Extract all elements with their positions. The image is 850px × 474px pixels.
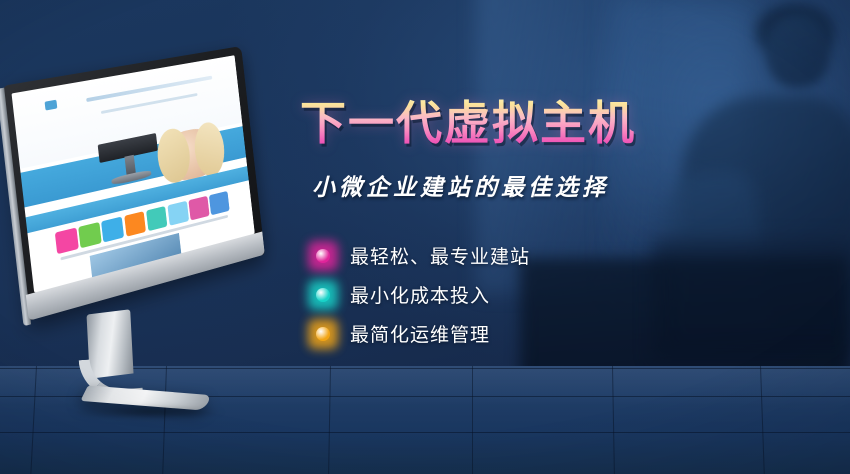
website-app-icon xyxy=(55,227,79,254)
feature-bullet-list: 最轻松、最专业建站 最小化成本投入 最简化运维管理 xyxy=(308,236,830,353)
monitor-body xyxy=(2,46,265,321)
feature-bullet-item: 最轻松、最专业建站 xyxy=(308,236,830,275)
desktop-monitor xyxy=(0,76,298,406)
website-app-icon xyxy=(188,196,209,221)
website-app-icon xyxy=(167,201,188,226)
bullet-dot-magenta-icon xyxy=(308,241,338,271)
floor-line-vertical xyxy=(472,366,473,474)
floor-line-horizontal xyxy=(0,432,850,433)
bullet-dot-core xyxy=(316,327,330,341)
feature-bullet-label: 最简化运维管理 xyxy=(350,320,490,347)
banner-subtitle: 小微企业建站的最佳选择 xyxy=(312,168,830,202)
website-app-icon xyxy=(146,206,168,231)
promo-banner: 下一代虚拟主机 小微企业建站的最佳选择 最轻松、最专业建站 最小化成本投入 xyxy=(0,0,850,474)
website-app-icon xyxy=(209,191,230,215)
bullet-dot-core xyxy=(316,249,330,263)
monitor-stand-shadow xyxy=(74,406,224,418)
bullet-dot-orange-icon xyxy=(308,319,338,349)
website-app-icon xyxy=(78,222,101,248)
website-app-icon xyxy=(101,216,124,242)
feature-bullet-item: 最简化运维管理 xyxy=(308,314,830,353)
feature-bullet-label: 最轻松、最专业建站 xyxy=(350,242,530,269)
feature-bullet-item: 最小化成本投入 xyxy=(308,275,830,314)
bullet-dot-teal-icon xyxy=(308,280,338,310)
person-head xyxy=(766,14,830,88)
feature-bullet-label: 最小化成本投入 xyxy=(350,281,490,308)
model-hair-right xyxy=(192,120,227,179)
banner-headline: 下一代虚拟主机 xyxy=(300,96,830,150)
hero-object-stem xyxy=(125,155,136,174)
website-app-icon xyxy=(124,211,146,237)
banner-text-block: 下一代虚拟主机 小微企业建站的最佳选择 最轻松、最专业建站 最小化成本投入 xyxy=(300,96,830,353)
bullet-dot-core xyxy=(316,288,330,302)
